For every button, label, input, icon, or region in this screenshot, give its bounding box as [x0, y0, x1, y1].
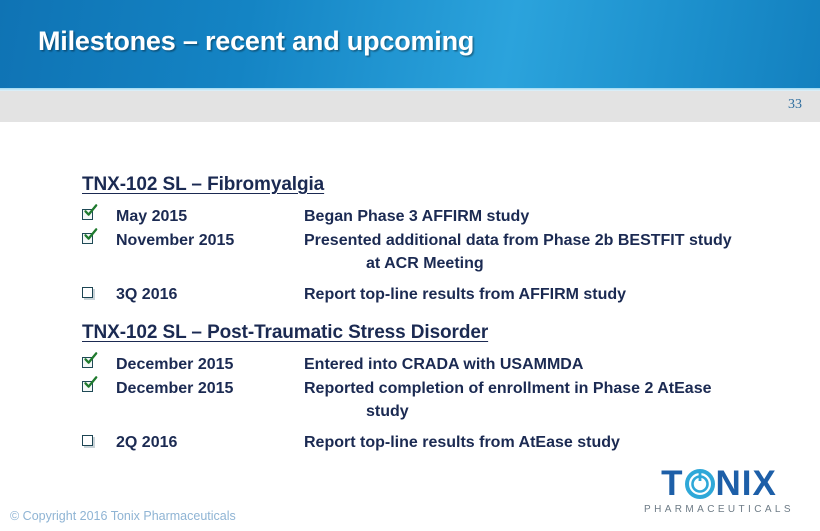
milestone-description: Presented additional data from Phase 2b …	[304, 229, 732, 275]
logo-letter-t: T	[661, 466, 683, 502]
milestone-date: December 2015	[116, 353, 304, 376]
milestone-description: Reported completion of enrollment in Pha…	[304, 377, 711, 423]
milestone-date: December 2015	[116, 377, 304, 400]
milestone-description-main: Entered into CRADA with USAMMDA	[304, 356, 583, 373]
milestone-date: 2Q 2016	[116, 431, 304, 454]
logo-wordmark: T NIX	[634, 466, 804, 502]
milestone-row: 3Q 2016 Report top-line results from AFF…	[82, 283, 732, 306]
power-symbol-icon	[685, 469, 715, 499]
page-number-band	[0, 91, 820, 123]
checked-checkbox-icon	[82, 232, 96, 246]
milestone-row: December 2015 Reported completion of enr…	[82, 377, 711, 423]
milestone-description-main: Report top-line results from AFFIRM stud…	[304, 286, 626, 303]
page-title: Milestones – recent and upcoming	[38, 26, 474, 57]
milestone-description-main: Presented additional data from Phase 2b …	[304, 232, 732, 249]
milestone-row: November 2015 Presented additional data …	[82, 229, 732, 275]
milestone-description-main: Began Phase 3 AFFIRM study	[304, 208, 529, 225]
milestone-marker	[82, 353, 116, 375]
section-ptsd: TNX-102 SL – Post-Traumatic Stress Disor…	[82, 322, 711, 455]
milestone-description: Entered into CRADA with USAMMDA	[304, 353, 583, 376]
section-fibromyalgia: TNX-102 SL – Fibromyalgia May 2015 Began…	[82, 174, 732, 307]
milestone-description: Report top-line results from AtEase stud…	[304, 431, 620, 454]
checked-checkbox-icon	[82, 208, 96, 222]
milestone-description: Began Phase 3 AFFIRM study	[304, 205, 529, 228]
logo-letters-nix: NIX	[716, 466, 777, 502]
milestone-description-continued: study	[304, 400, 711, 423]
milestone-description-main: Report top-line results from AtEase stud…	[304, 434, 620, 451]
milestone-description: Report top-line results from AFFIRM stud…	[304, 283, 626, 306]
milestone-row: December 2015 Entered into CRADA with US…	[82, 353, 711, 376]
milestone-marker	[82, 205, 116, 227]
milestone-marker	[82, 377, 116, 399]
milestone-marker	[82, 283, 116, 305]
milestone-description-main: Reported completion of enrollment in Pha…	[304, 380, 711, 397]
empty-checkbox-icon	[82, 434, 96, 448]
copyright-text: © Copyright 2016 Tonix Pharmaceuticals	[10, 509, 236, 523]
slide-content: TNX-102 SL – Fibromyalgia May 2015 Began…	[0, 122, 820, 502]
tonix-logo: T NIX PHARMACEUTICALS	[634, 466, 804, 515]
milestone-date: November 2015	[116, 229, 304, 252]
milestone-row: May 2015 Began Phase 3 AFFIRM study	[82, 205, 732, 228]
milestone-date: May 2015	[116, 205, 304, 228]
section-heading: TNX-102 SL – Post-Traumatic Stress Disor…	[82, 322, 711, 344]
milestone-row: 2Q 2016 Report top-line results from AtE…	[82, 431, 711, 454]
checked-checkbox-icon	[82, 380, 96, 394]
checked-checkbox-icon	[82, 356, 96, 370]
empty-checkbox-icon	[82, 286, 96, 300]
milestone-date: 3Q 2016	[116, 283, 304, 306]
milestone-marker	[82, 229, 116, 251]
milestone-marker	[82, 431, 116, 453]
milestone-description-continued: at ACR Meeting	[304, 252, 732, 275]
logo-subtitle: PHARMACEUTICALS	[634, 504, 804, 515]
page-number: 33	[788, 97, 802, 113]
section-heading: TNX-102 SL – Fibromyalgia	[82, 174, 732, 196]
